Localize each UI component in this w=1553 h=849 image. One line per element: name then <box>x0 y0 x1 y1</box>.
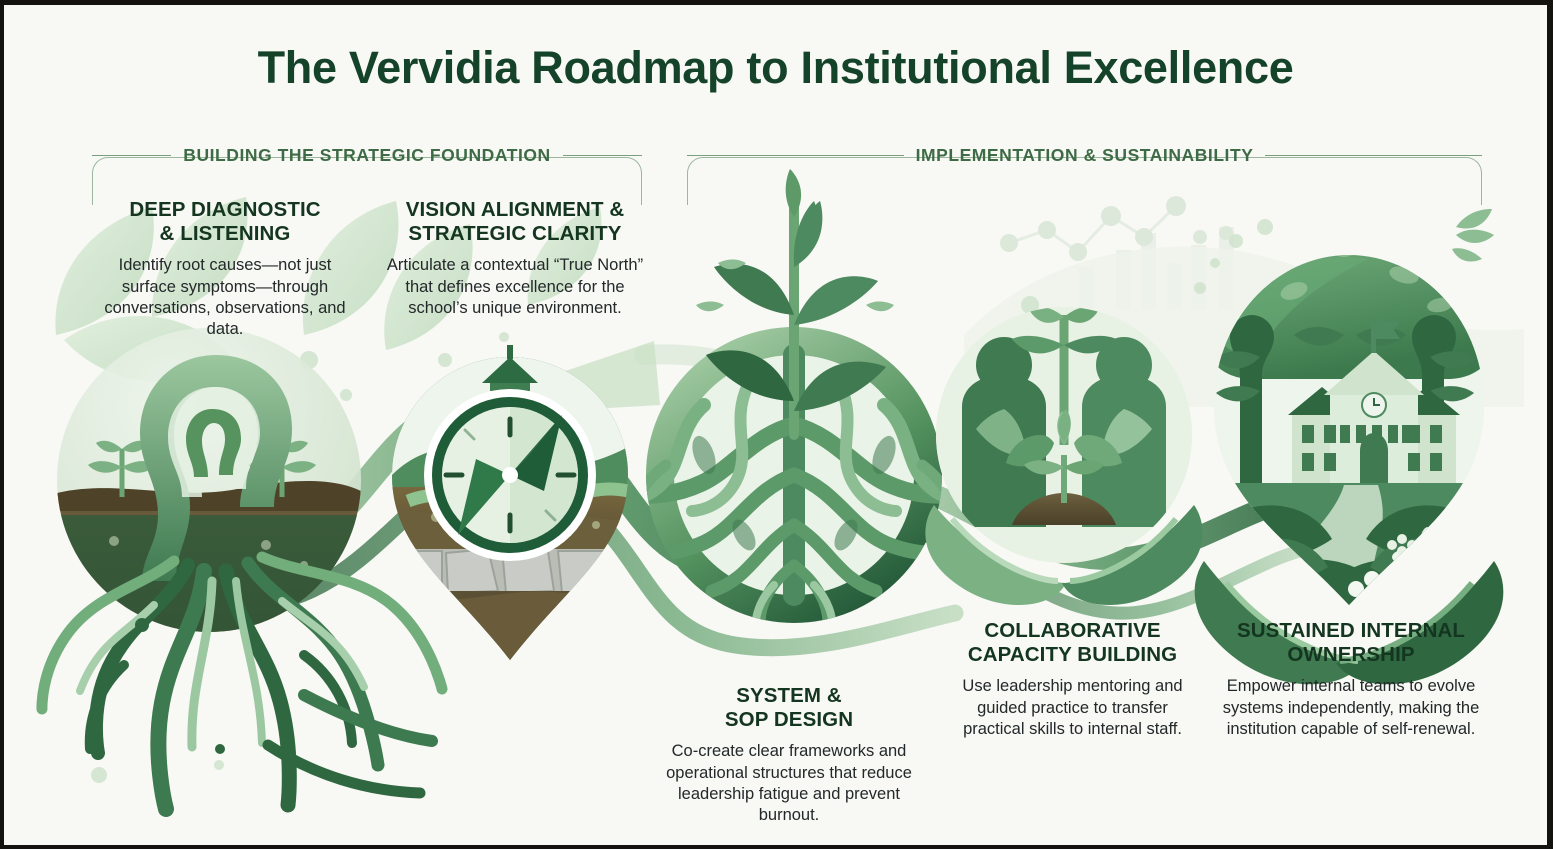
step-heading: VISION ALIGNMENT & STRATEGIC CLARITY <box>382 198 648 246</box>
step-heading: DEEP DIAGNOSTIC & LISTENING <box>92 198 358 246</box>
phase-rule-left <box>687 155 904 156</box>
step-heading: SYSTEM & SOP DESIGN <box>656 684 922 732</box>
step-system-sop-design: SYSTEM & SOP DESIGN Co-create clear fram… <box>656 684 922 827</box>
step-body: Co-create clear frameworks and operation… <box>656 741 922 826</box>
step-body: Empower internal teams to evolve systems… <box>1207 676 1495 740</box>
step-collaborative-capacity: COLLABORATIVE CAPACITY BUILDING Use lead… <box>950 619 1195 740</box>
step-heading-line2: & LISTENING <box>160 222 291 245</box>
step-vision-alignment: VISION ALIGNMENT & STRATEGIC CLARITY Art… <box>382 198 648 319</box>
phase-header-2: IMPLEMENTATION & SUSTAINABILITY <box>687 145 1482 166</box>
phase-rule-left <box>92 155 171 156</box>
phase-header-1: BUILDING THE STRATEGIC FOUNDATION <box>92 145 642 166</box>
step-heading-line1: DEEP DIAGNOSTIC <box>129 198 320 221</box>
step-heading-line1: SYSTEM & <box>736 684 842 707</box>
phase-label-2: IMPLEMENTATION & SUSTAINABILITY <box>916 145 1254 166</box>
step-heading-line1: VISION ALIGNMENT & <box>406 198 625 221</box>
step-heading-line2: OWNERSHIP <box>1287 643 1414 666</box>
step-sustained-ownership: SUSTAINED INTERNAL OWNERSHIP Empower int… <box>1207 619 1495 740</box>
step-body: Identify root causes—not just surface sy… <box>92 255 358 340</box>
phase-label-1: BUILDING THE STRATEGIC FOUNDATION <box>183 145 550 166</box>
step-heading-line1: COLLABORATIVE <box>984 619 1160 642</box>
step-deep-diagnostic: DEEP DIAGNOSTIC & LISTENING Identify roo… <box>92 198 358 341</box>
page-title: The Vervidia Roadmap to Institutional Ex… <box>4 43 1547 93</box>
step-heading-line2: SOP DESIGN <box>725 708 853 731</box>
step-heading-line2: CAPACITY BUILDING <box>968 643 1177 666</box>
step-heading-line1: SUSTAINED INTERNAL <box>1237 619 1465 642</box>
infographic-canvas: The Vervidia Roadmap to Institutional Ex… <box>0 0 1553 849</box>
phase-rule-right <box>563 155 642 156</box>
step-heading-line2: STRATEGIC CLARITY <box>408 222 621 245</box>
text-layer: The Vervidia Roadmap to Institutional Ex… <box>4 5 1547 845</box>
step-body: Use leadership mentoring and guided prac… <box>950 676 1195 740</box>
step-body: Articulate a contextual “True North” tha… <box>382 255 648 319</box>
step-heading: SUSTAINED INTERNAL OWNERSHIP <box>1207 619 1495 667</box>
phase-rule-right <box>1265 155 1482 156</box>
step-heading: COLLABORATIVE CAPACITY BUILDING <box>950 619 1195 667</box>
